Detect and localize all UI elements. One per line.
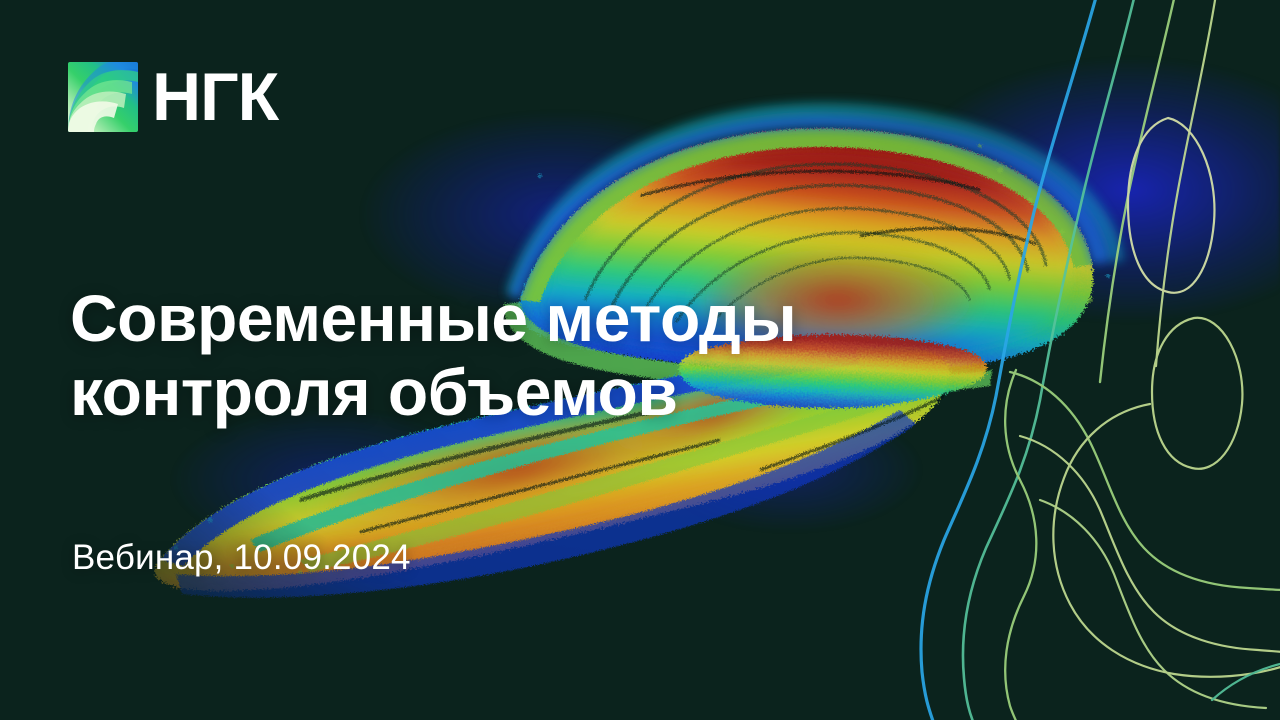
webinar-title-slide: НГК Современные методы контроля объемов … — [0, 0, 1280, 720]
brand-logo: НГК — [68, 62, 278, 132]
logo-contour-gradient — [68, 62, 138, 132]
page-title-line-2: контроля объемов — [70, 356, 1080, 430]
webinar-date-subtitle: Вебинар, 10.09.2024 — [72, 538, 411, 578]
ngk-contour-square-logo-icon — [68, 62, 138, 132]
brand-wordmark: НГК — [152, 63, 278, 131]
page-title: Современные методы контроля объемов — [70, 282, 1080, 430]
page-title-line-1: Современные методы — [70, 282, 1080, 356]
